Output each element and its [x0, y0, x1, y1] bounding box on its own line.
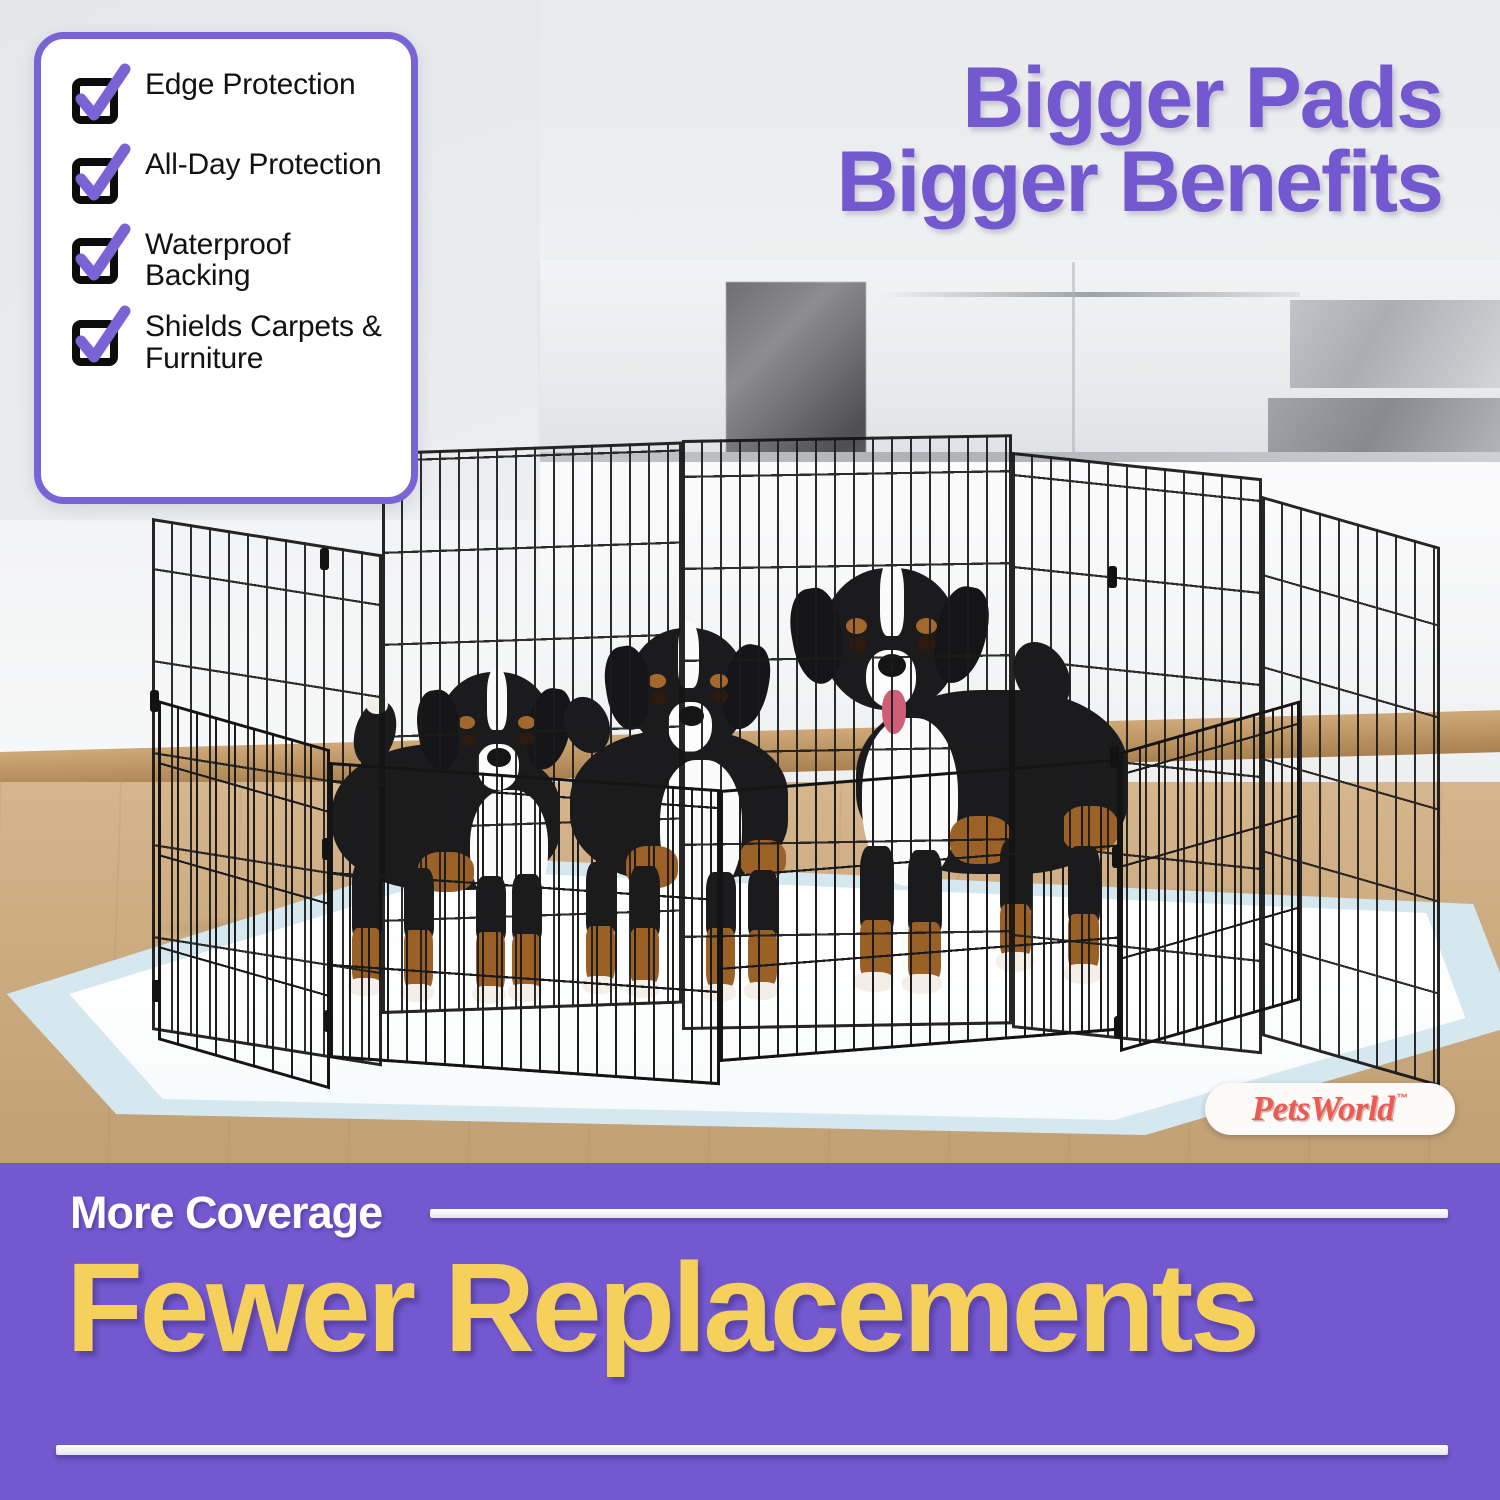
feature-item-edge-protection: Edge Protection [67, 65, 391, 129]
feature-item-label: All-Day Protection [145, 145, 382, 180]
banner-divider-top [430, 1209, 1448, 1218]
banner-kicker-row: More Coverage [0, 1163, 1500, 1239]
pen-hinge [324, 1010, 333, 1032]
banner-kicker: More Coverage [70, 1187, 382, 1239]
pen-hinge [1114, 1016, 1123, 1038]
bottom-promo-banner: More Coverage Fewer Replacements [0, 1163, 1500, 1500]
pen-hinge [1108, 566, 1117, 588]
feature-item-label: Waterproof Backing [145, 225, 391, 291]
pen-panel-front-right [1120, 700, 1300, 1052]
pen-panel-front-center-left [330, 762, 720, 1085]
pen-hinge [1112, 846, 1121, 868]
feature-checklist-card: Edge Protection All-Day Protection Water… [34, 32, 418, 504]
pen-hinge [322, 838, 331, 860]
feature-item-all-day-protection: All-Day Protection [67, 145, 391, 209]
brand-logo: PetsWorld ™ [1205, 1083, 1455, 1135]
pen-hinge [320, 548, 329, 570]
banner-headline: Fewer Replacements [0, 1245, 1500, 1371]
checkbox-check-icon [67, 149, 127, 209]
headline-line-2: Bigger Benefits [836, 140, 1442, 224]
feature-item-shields-carpets-furniture: Shields Carpets & Furniture [67, 307, 391, 373]
feature-item-label: Edge Protection [145, 65, 355, 100]
feature-item-waterproof-backing: Waterproof Backing [67, 225, 391, 291]
pen-hinge [150, 690, 159, 712]
checkbox-check-icon [67, 69, 127, 129]
pen-hinge [1110, 746, 1119, 768]
headline-line-1: Bigger Pads [836, 56, 1442, 140]
checkbox-check-icon [67, 311, 127, 371]
feature-item-label: Shields Carpets & Furniture [145, 307, 391, 373]
banner-divider-bottom [56, 1445, 1448, 1455]
pen-panel-front-left [158, 700, 330, 1089]
trademark-symbol: ™ [1396, 1091, 1408, 1105]
checkbox-check-icon [67, 229, 127, 289]
pen-hinge [152, 980, 161, 1002]
pen-panel-front-center-right [720, 759, 1120, 1062]
page-title: Bigger Pads Bigger Benefits [836, 56, 1442, 225]
brand-name: PetsWorld [1252, 1089, 1395, 1129]
